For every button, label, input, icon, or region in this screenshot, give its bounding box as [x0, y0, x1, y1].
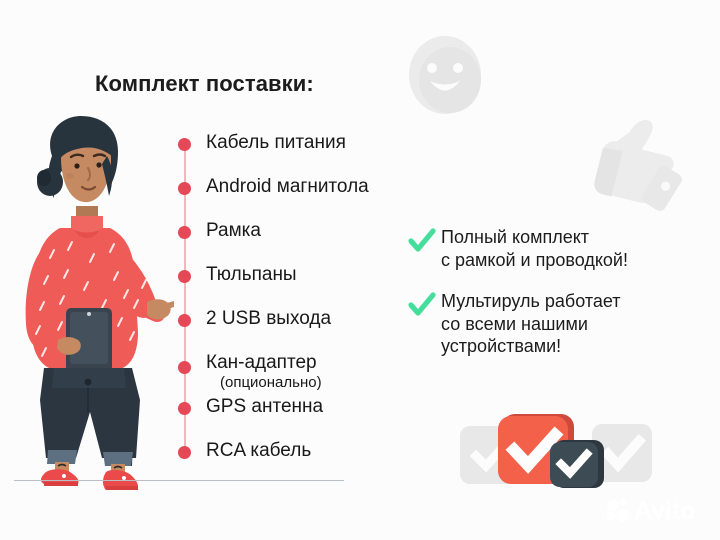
- woman-pointing-illustration: [14, 112, 174, 490]
- claim-item: Мультируль работает со всеми нашими устр…: [408, 290, 708, 359]
- list-item-note: (опционально): [206, 374, 322, 393]
- promo-canvas: Avito: [0, 0, 720, 540]
- package-contents-list: Кабель питания Android магнитола Рамка Т…: [178, 133, 428, 485]
- list-item-label: 2 USB выхода: [206, 309, 331, 330]
- claim-text: Мультируль работает со всеми нашими устр…: [441, 290, 621, 359]
- list-item-label: Кабель питания: [206, 133, 346, 154]
- bullet-dot-icon: [178, 402, 191, 415]
- check-icon: [408, 228, 436, 254]
- list-item-label: GPS антенна: [206, 397, 323, 418]
- bullet-dot-icon: [178, 182, 191, 195]
- checkbox-cards-icon: [458, 402, 654, 494]
- bullet-dot-icon: [178, 446, 191, 459]
- list-item-label: RCA кабель: [206, 441, 311, 462]
- list-item: RCA кабель: [178, 441, 428, 485]
- avito-watermark: Avito: [604, 494, 708, 526]
- list-item-label: Android магнитола: [206, 177, 369, 198]
- list-item-label: Кан-адаптер: [206, 352, 317, 373]
- thumbs-up-icon: [578, 112, 690, 216]
- bullet-dot-icon: [178, 270, 191, 283]
- claim-text: Полный комплект с рамкой и проводкой!: [441, 226, 628, 272]
- list-item: Кан-адаптер (опционально): [178, 353, 428, 397]
- smiley-face-icon: [406, 34, 484, 116]
- bullet-dot-icon: [178, 314, 191, 327]
- list-item: Android магнитола: [178, 177, 428, 221]
- page-title: Комплект поставки:: [95, 71, 314, 97]
- claim-item: Полный комплект с рамкой и проводкой!: [408, 226, 708, 272]
- list-item-label: Рамка: [206, 221, 261, 242]
- list-item: Кабель питания: [178, 133, 428, 177]
- svg-text:Avito: Avito: [634, 497, 696, 525]
- list-item-label-wrapper: Кан-адаптер (опционально): [206, 353, 322, 392]
- list-item: GPS антенна: [178, 397, 428, 441]
- list-item: Рамка: [178, 221, 428, 265]
- list-item: Тюльпаны: [178, 265, 428, 309]
- claims-section: Полный комплект с рамкой и проводкой! Му…: [408, 226, 708, 376]
- check-icon: [408, 292, 436, 318]
- list-item-label: Тюльпаны: [206, 265, 297, 286]
- list-item: 2 USB выхода: [178, 309, 428, 353]
- bullet-dot-icon: [178, 138, 191, 151]
- bullet-dot-icon: [178, 361, 191, 374]
- bullet-dot-icon: [178, 226, 191, 239]
